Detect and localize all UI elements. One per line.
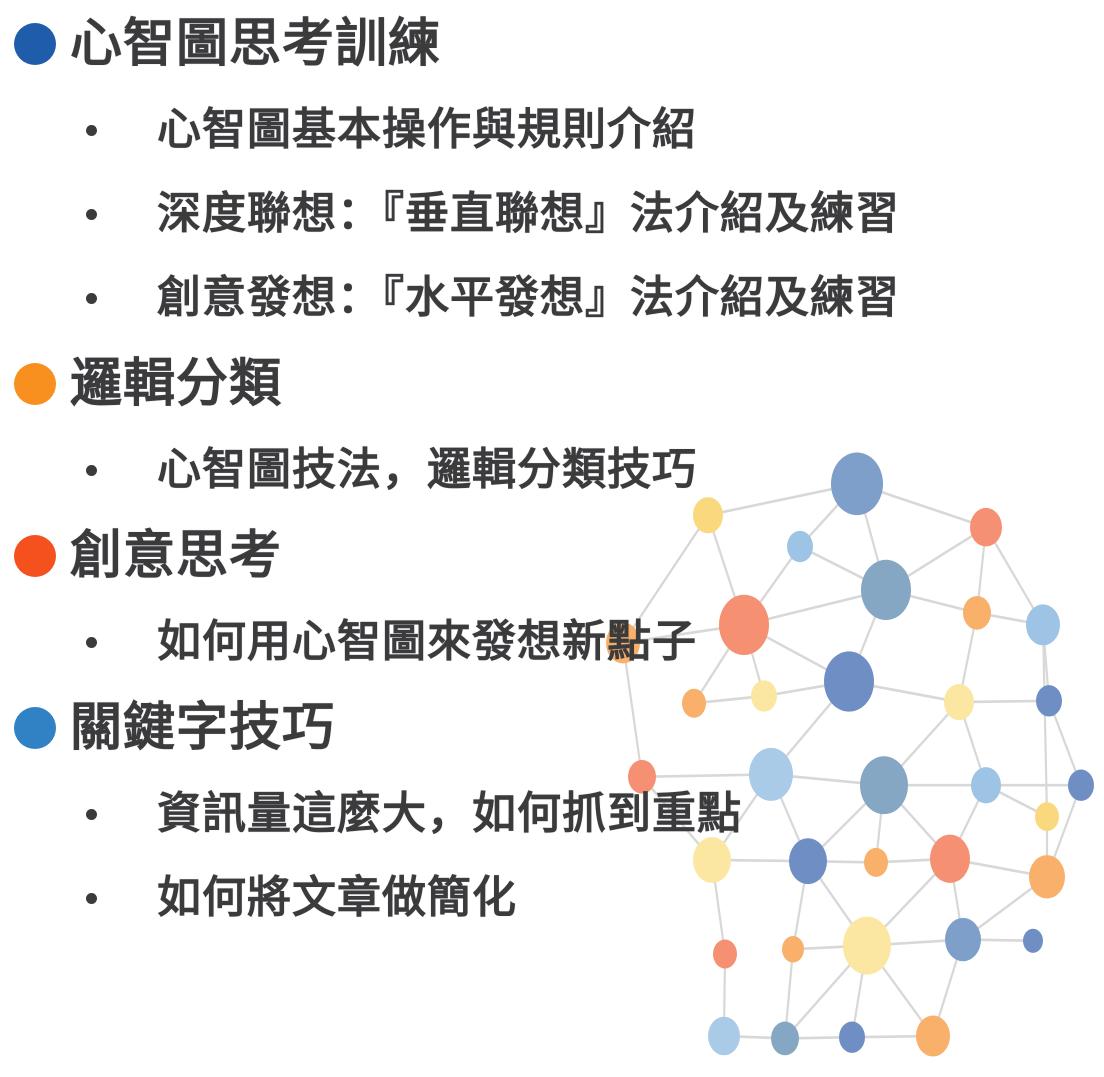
small-bullet-icon xyxy=(86,125,97,136)
network-node xyxy=(713,940,737,969)
outline-sub-item-label: 如何用心智圖來發想新點子 xyxy=(157,620,697,664)
small-bullet-icon xyxy=(86,465,97,476)
outline-section-heading[interactable]: 心智圖思考訓練 xyxy=(0,0,1104,88)
outline-sub-item-label: 資訊量這麼大，如何抓到重點 xyxy=(157,792,742,836)
filled-circle-icon xyxy=(14,535,56,577)
outline-sub-item[interactable]: 如何將文章做簡化 xyxy=(0,856,1104,940)
outline-section-heading[interactable]: 創意思考 xyxy=(0,512,1104,600)
network-node xyxy=(708,1017,740,1056)
network-node xyxy=(916,1016,950,1057)
outline-sub-item[interactable]: 如何用心智圖來發想新點子 xyxy=(0,600,1104,684)
outline-sub-item[interactable]: 深度聯想：『垂直聯想』法介紹及練習 xyxy=(0,172,1104,256)
filled-circle-icon xyxy=(14,707,56,749)
outline-list: 心智圖思考訓練 心智圖基本操作與規則介紹 深度聯想：『垂直聯想』法介紹及練習 創… xyxy=(0,0,1104,940)
network-link xyxy=(785,1037,852,1038)
network-link xyxy=(867,940,963,946)
outline-sub-item-label: 心智圖技法，邏輯分類技巧 xyxy=(157,448,697,492)
network-node xyxy=(771,1022,799,1056)
outline-section-title: 創意思考 xyxy=(70,530,282,582)
outline-sub-item-label: 創意發想：『水平發想』法介紹及練習 xyxy=(157,276,900,320)
outline-section-heading[interactable]: 邏輯分類 xyxy=(0,340,1104,428)
outline-sub-item[interactable]: 創意發想：『水平發想』法介紹及練習 xyxy=(0,256,1104,340)
small-bullet-icon xyxy=(86,209,97,220)
outline-section-title: 關鍵字技巧 xyxy=(70,702,335,754)
filled-circle-icon xyxy=(14,363,56,405)
outline-section-heading[interactable]: 關鍵字技巧 xyxy=(0,684,1104,772)
small-bullet-icon xyxy=(86,637,97,648)
outline-section-title: 邏輯分類 xyxy=(70,358,282,410)
slide-canvas: 心智圖思考訓練 心智圖基本操作與規則介紹 深度聯想：『垂直聯想』法介紹及練習 創… xyxy=(0,0,1104,1077)
outline-sub-item[interactable]: 資訊量這麼大，如何抓到重點 xyxy=(0,772,1104,856)
small-bullet-icon xyxy=(86,893,97,904)
small-bullet-icon xyxy=(86,293,97,304)
network-link xyxy=(785,946,867,1039)
network-link xyxy=(933,940,963,1036)
outline-section-title: 心智圖思考訓練 xyxy=(70,18,441,70)
network-link xyxy=(867,946,933,1036)
network-link xyxy=(724,1036,785,1038)
outline-sub-item-label: 心智圖基本操作與規則介紹 xyxy=(157,108,697,152)
filled-circle-icon xyxy=(14,23,56,65)
outline-sub-item[interactable]: 心智圖基本操作與規則介紹 xyxy=(0,88,1104,172)
small-bullet-icon xyxy=(86,809,97,820)
network-link xyxy=(852,946,867,1038)
outline-sub-item-label: 如何將文章做簡化 xyxy=(157,876,517,920)
network-link xyxy=(852,1036,933,1037)
network-link xyxy=(793,946,867,950)
outline-sub-item-label: 深度聯想：『垂直聯想』法介紹及練習 xyxy=(157,192,900,236)
outline-sub-item[interactable]: 心智圖技法，邏輯分類技巧 xyxy=(0,428,1104,512)
network-node xyxy=(839,1022,865,1053)
network-link xyxy=(785,949,793,1038)
network-link xyxy=(724,954,725,1036)
